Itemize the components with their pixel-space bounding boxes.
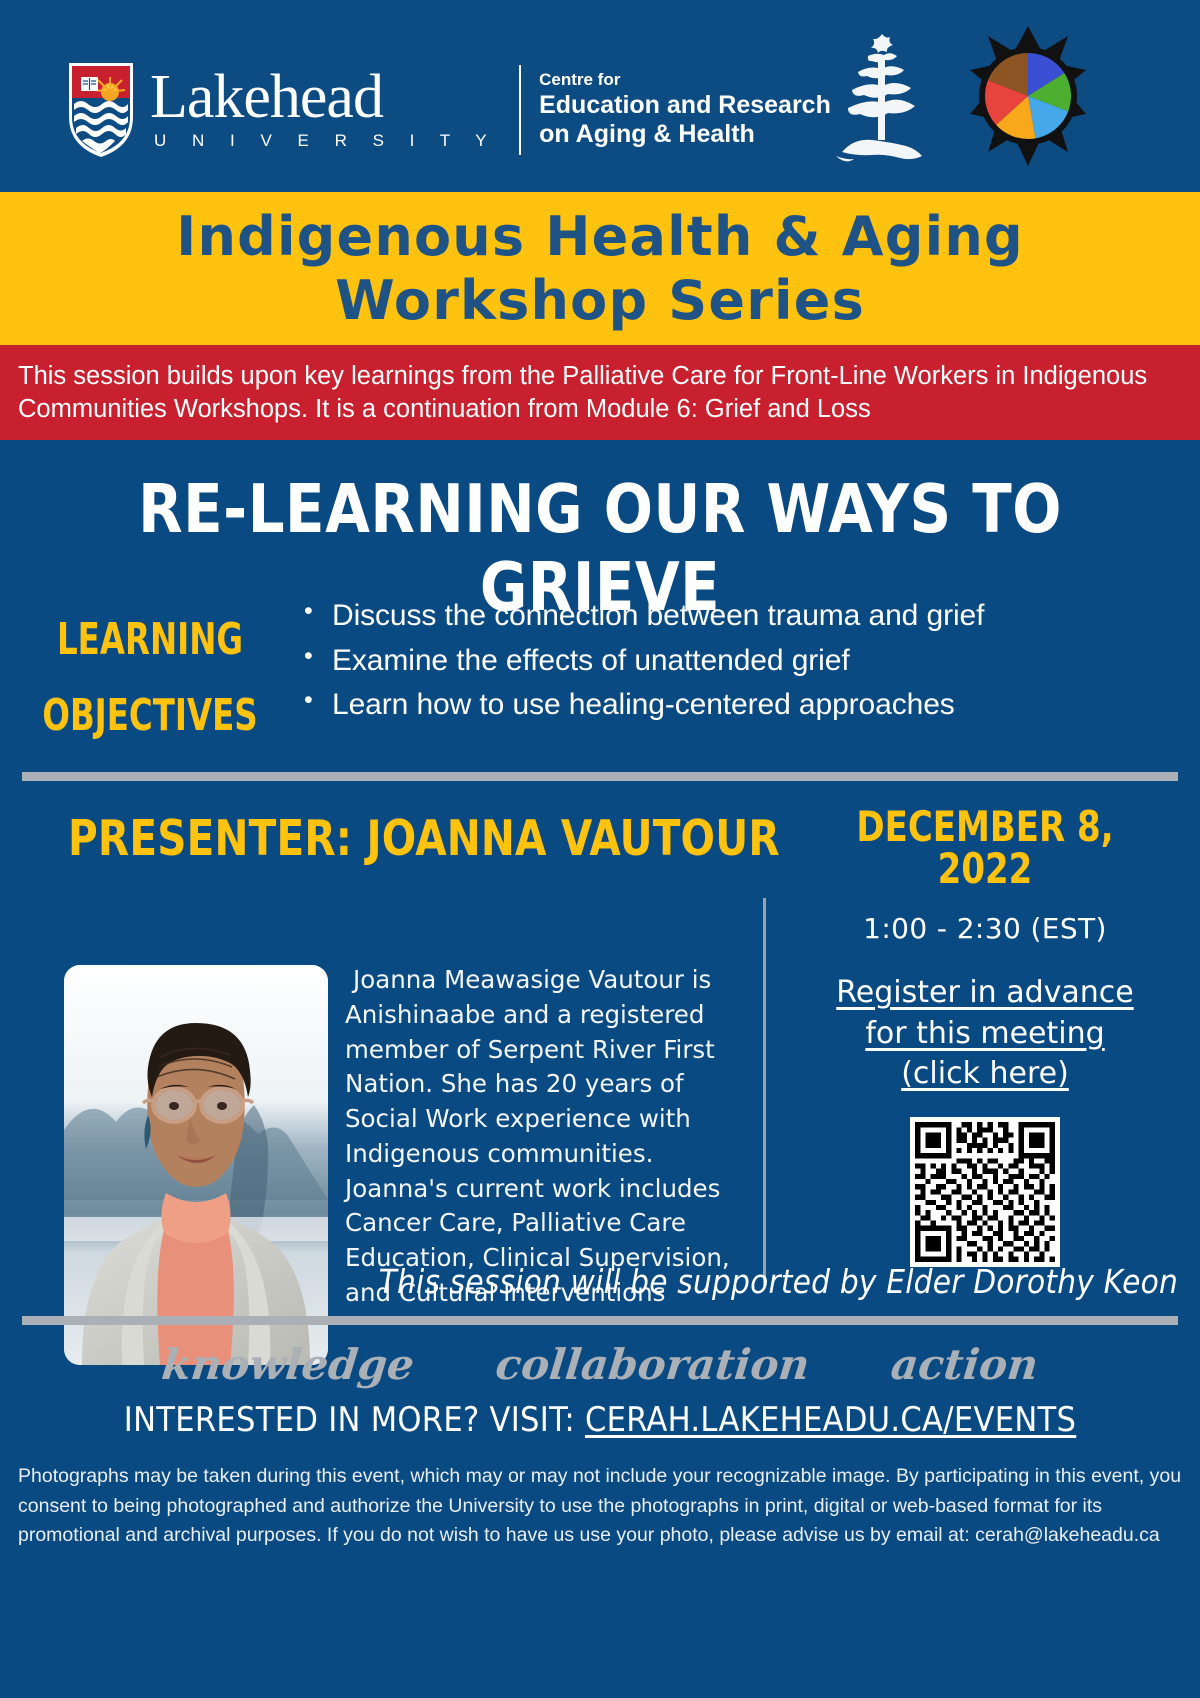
objectives-label-line-1: LEARNING	[27, 602, 273, 678]
lakehead-university-word: U N I V E R S I T Y	[154, 131, 497, 151]
more-info-prefix: INTERESTED IN MORE? VISIT:	[124, 1400, 585, 1440]
list-item: Discuss the connection between trauma an…	[300, 594, 1170, 639]
event-date-line-2: 2022	[810, 848, 1161, 890]
cerah-tagline: knowledge collaboration action	[0, 1340, 1200, 1389]
lakehead-wordmark: Lakehead U N I V E R S I T Y	[150, 68, 497, 151]
more-info-line: INTERESTED IN MORE? VISIT: CERAH.LAKEHEA…	[0, 1400, 1200, 1440]
avatar	[64, 965, 328, 1365]
presenter-bio: Joanna Meawasige Vautour is Anishinaabe …	[345, 963, 745, 1311]
register-link-line-3: (click here)	[790, 1054, 1180, 1095]
qr-code-icon[interactable]	[910, 1117, 1060, 1267]
register-link[interactable]: Register in advance for this meeting (cl…	[790, 973, 1180, 1095]
cerah-line-1: Centre for	[539, 69, 831, 90]
cerah-wordmark: Centre for Education and Research on Agi…	[539, 69, 831, 149]
learning-objectives-label: LEARNING OBJECTIVES	[27, 594, 273, 753]
poster-root: Lakehead U N I V E R S I T Y Centre for …	[0, 0, 1200, 1698]
register-link-line-1: Register in advance	[790, 973, 1180, 1014]
cerah-line-2: Education and Research	[539, 91, 831, 121]
pine-tree-icon	[830, 28, 935, 173]
presenter-heading: PRESENTER: JOANNA VAUTOUR	[68, 810, 780, 867]
event-date-line-1: DECEMBER 8,	[810, 806, 1161, 848]
tagline-word-collaboration: collaboration	[493, 1340, 811, 1389]
session-context-banner: This session builds upon key learnings f…	[0, 345, 1200, 440]
divider-top	[22, 772, 1178, 781]
divider-bottom	[22, 1316, 1178, 1325]
header-divider-rule	[519, 65, 521, 155]
list-item: Examine the effects of unattended grief	[300, 639, 1170, 684]
column-divider-rule	[763, 898, 766, 1286]
poster-header: Lakehead U N I V E R S I T Y Centre for …	[0, 0, 1200, 192]
event-time: 1:00 - 2:30 (EST)	[790, 912, 1180, 945]
event-date: DECEMBER 8, 2022	[810, 806, 1161, 890]
tagline-word-action: action	[889, 1340, 1041, 1389]
objectives-label-line-2: OBJECTIVES	[27, 678, 273, 754]
lakehead-crest-icon	[68, 62, 134, 158]
lakehead-logo-lockup: Lakehead U N I V E R S I T Y Centre for …	[68, 57, 831, 162]
series-title-banner: Indigenous Health & Aging Workshop Serie…	[0, 192, 1200, 345]
elder-support-note: This session will be supported by Elder …	[0, 1262, 1178, 1301]
medicine-wheel-icon	[968, 22, 1088, 175]
photo-consent-disclaimer: Photographs may be taken during this eve…	[18, 1462, 1183, 1551]
cerah-events-url[interactable]: CERAH.LAKEHEADU.CA/EVENTS	[585, 1400, 1076, 1440]
learning-objectives-list: Discuss the connection between trauma an…	[300, 594, 1200, 728]
series-title-line-2: Workshop Series	[335, 269, 865, 333]
cerah-line-3: on Aging & Health	[539, 120, 831, 150]
register-link-line-2: for this meeting	[790, 1014, 1180, 1055]
list-item: Learn how to use healing-centered approa…	[300, 683, 1170, 728]
event-details-column: DECEMBER 8, 2022 1:00 - 2:30 (EST) Regis…	[790, 806, 1180, 1267]
lakehead-name: Lakehead	[150, 68, 497, 127]
series-title-line-1: Indigenous Health & Aging	[176, 205, 1024, 269]
learning-objectives-section: LEARNING OBJECTIVES Discuss the connecti…	[0, 594, 1200, 753]
tagline-word-knowledge: knowledge	[159, 1340, 416, 1389]
session-context-text: This session builds upon key learnings f…	[0, 360, 1200, 425]
